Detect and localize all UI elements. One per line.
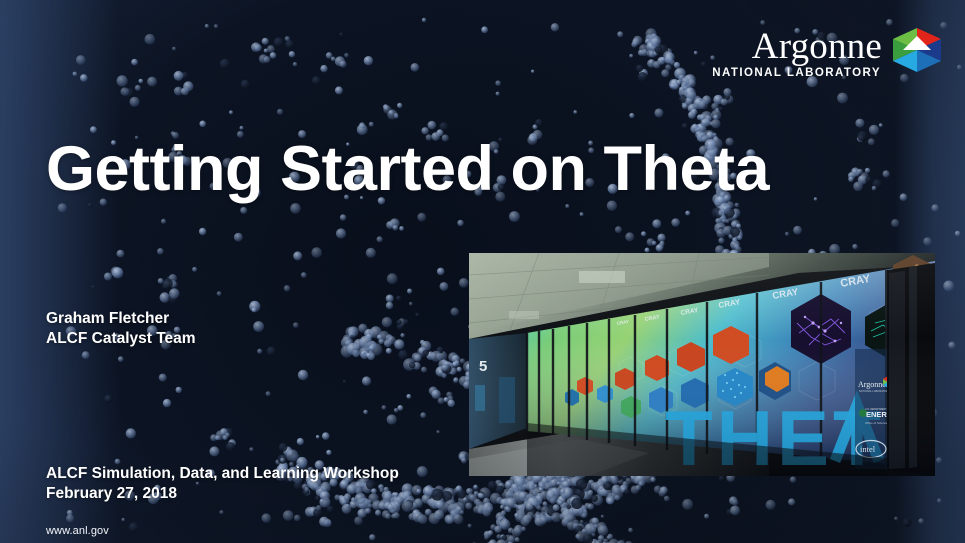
event-date: February 27, 2018	[46, 484, 399, 504]
argonne-logo-text: Argonne NATIONAL LABORATORY	[712, 26, 882, 80]
argonne-hexagon-icon	[891, 27, 943, 73]
event-block: ALCF Simulation, Data, and Learning Work…	[46, 464, 399, 505]
website-url: www.anl.gov	[46, 525, 109, 537]
theta-supercomputer-photo: 5	[469, 253, 935, 476]
event-name: ALCF Simulation, Data, and Learning Work…	[46, 464, 399, 484]
presenter-team: ALCF Catalyst Team	[46, 329, 196, 349]
argonne-subtitle: NATIONAL LABORATORY	[712, 68, 881, 80]
presenter-block: Graham Fletcher ALCF Catalyst Team	[46, 309, 196, 350]
argonne-wordmark: Argonne	[752, 28, 882, 65]
slide-title: Getting Started on Theta	[46, 133, 769, 205]
presentation-slide: Argonne NATIONAL LABORATORY Getting Star…	[0, 0, 965, 543]
argonne-logo: Argonne NATIONAL LABORATORY	[712, 26, 943, 80]
presenter-name: Graham Fletcher	[46, 309, 196, 329]
